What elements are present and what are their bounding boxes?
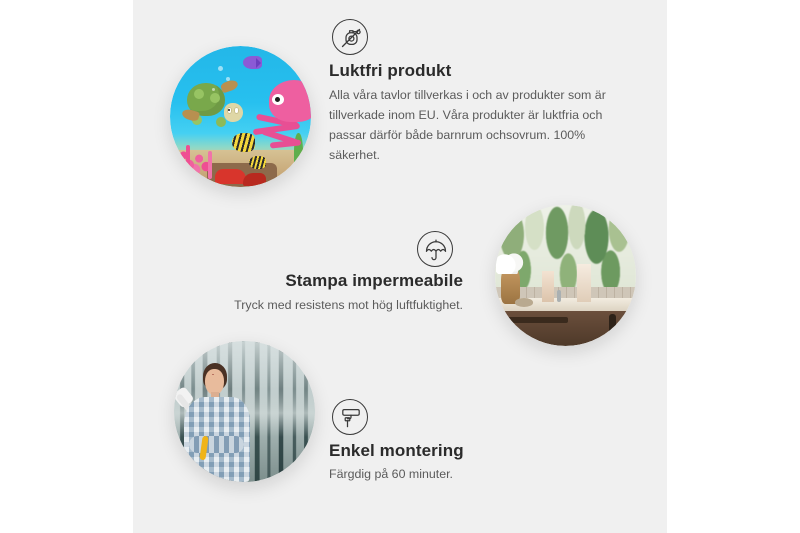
feature-description-easy-mounting: Färgdig på 60 minuter. (329, 464, 626, 484)
coral-decoration (176, 133, 218, 172)
screenshot-canvas: Luktfri produkt Alla våra tavlor tillver… (0, 0, 800, 533)
feature-title-easy-mounting: Enkel montering (329, 441, 464, 461)
no-perfume-icon (332, 19, 368, 55)
forest-wallpaper-photo (174, 341, 315, 482)
striped-fish-small (249, 156, 266, 169)
striped-fish-large (232, 133, 255, 151)
woman-figure (182, 361, 261, 482)
feature-description-waterproof: Tryck med resistens mot hög luftfuktighe… (133, 295, 463, 315)
feature-stage: Luktfri produkt Alla våra tavlor tillver… (133, 0, 667, 533)
feature-image-woman-with-roller-forest-wallpaper[interactable] (174, 341, 315, 482)
purple-fish (243, 56, 261, 69)
underwater-illustration (170, 46, 311, 187)
feature-image-bathroom-botanical-wallpaper[interactable] (495, 205, 636, 346)
feature-title-waterproof: Stampa impermeabile (133, 271, 463, 291)
octopus-character (255, 80, 311, 148)
feature-image-underwater-kids-scene[interactable] (170, 46, 311, 187)
paint-roller-icon (332, 399, 368, 435)
bathroom-photo (495, 205, 636, 346)
feature-title-odorless: Luktfri produkt (329, 61, 451, 81)
umbrella-icon (417, 231, 453, 267)
feature-description-odorless: Alla våra tavlor tillverkas i och av pro… (329, 85, 626, 165)
